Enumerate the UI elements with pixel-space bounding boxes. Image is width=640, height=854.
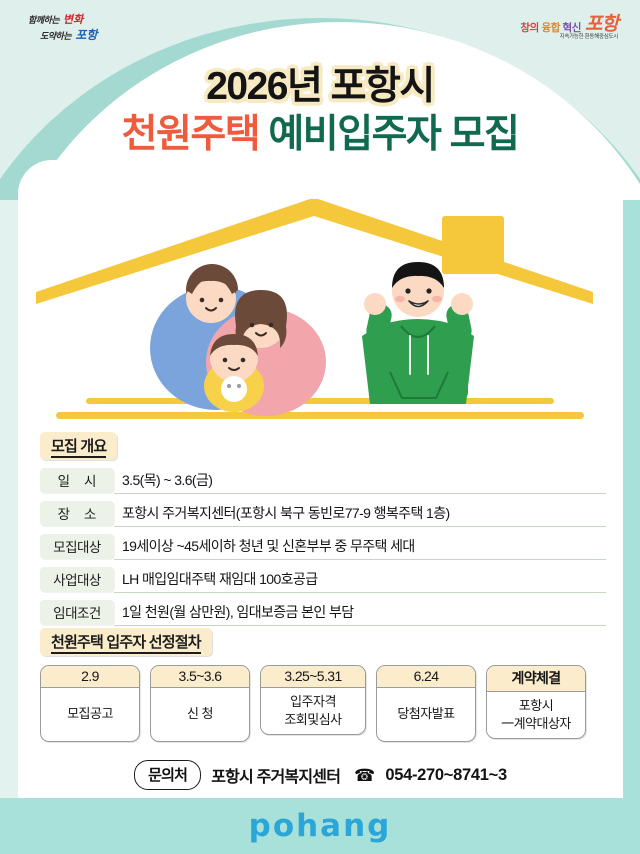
young-man-illustration bbox=[362, 262, 474, 404]
overview-label-terms: 임대조건 bbox=[40, 600, 114, 625]
slogan-row1-accent: 변화 bbox=[63, 13, 83, 26]
process-step-body: 모집공고 bbox=[41, 688, 139, 741]
pohang-city-logo: 창의 융합 혁신 포항 지속가능한 환동해중심도시 bbox=[520, 16, 618, 41]
overview-row: 임대조건 1일 천원(월 삼만원), 임대보증금 본인 부담 bbox=[40, 600, 606, 626]
process-step-date: 6.24 bbox=[377, 666, 475, 688]
process-step-body: 포항시 一계약대상자 bbox=[487, 692, 585, 738]
overview-label-date: 일시 bbox=[40, 468, 114, 493]
city-logo-brand: 포항 bbox=[585, 16, 618, 33]
slogan-row2-prefix: 도약하는 bbox=[40, 32, 71, 42]
title-line-1: 2026년 포항시 bbox=[0, 66, 640, 108]
overview-row: 사업대상 LH 매입임대주택 재임대 100호공급 bbox=[40, 567, 606, 593]
process-step-line-1: 포항시 bbox=[489, 697, 583, 715]
phone-icon: ☎ bbox=[354, 767, 375, 784]
overview-value-date: 3.5(목) ~ 3.6(금) bbox=[114, 470, 606, 494]
process-step-card: 6.24 당첨자발표 bbox=[376, 665, 476, 742]
process-heading: 천원주택 입주자 선정절차 bbox=[40, 628, 212, 656]
process-step-line-1: 모집공고 bbox=[43, 705, 137, 723]
process-step-date: 계약체결 bbox=[487, 666, 585, 692]
process-step-date: 3.25~5.31 bbox=[261, 666, 365, 688]
overview-label-program: 사업대상 bbox=[40, 567, 114, 592]
slogan-row1-prefix: 함께하는 bbox=[28, 16, 59, 26]
overview-value-eligibility: 19세이상 ~45세이하 청년 및 신혼부부 중 무주택 세대 bbox=[114, 536, 606, 560]
house-roof-icon bbox=[36, 199, 593, 304]
process-step-card: 3.25~5.31 입주자격 조회및심사 bbox=[260, 665, 366, 735]
process-step-body: 신 청 bbox=[151, 688, 249, 741]
overview-label-eligibility: 모집대상 bbox=[40, 534, 114, 559]
family-house-illustration bbox=[18, 186, 623, 424]
city-logo-word-2: 융합 bbox=[541, 22, 560, 34]
overview-section: 모집 개요 일시 3.5(목) ~ 3.6(금) 장소 포항시 주거복지센터(포… bbox=[18, 432, 623, 633]
title-main-text: 예비입주자 모집 bbox=[259, 113, 518, 156]
pohang-slogan-logo: 함께하는 변화 도약하는 포항 bbox=[26, 14, 146, 60]
poster-title: 2026년 포항시 천원주택 예비입주자 모집 bbox=[0, 66, 640, 156]
overview-row: 일시 3.5(목) ~ 3.6(금) bbox=[40, 468, 606, 494]
process-step-line-2: 一계약대상자 bbox=[489, 715, 583, 733]
process-step-line-1: 신 청 bbox=[153, 705, 247, 723]
process-step-body: 당첨자발표 bbox=[377, 688, 475, 741]
overview-heading: 모집 개요 bbox=[40, 432, 117, 460]
overview-label-place: 장소 bbox=[40, 501, 114, 526]
overview-table: 일시 3.5(목) ~ 3.6(금) 장소 포항시 주거복지센터(포항시 북구 … bbox=[40, 468, 606, 626]
process-step-card: 계약체결 포항시 一계약대상자 bbox=[486, 665, 586, 739]
pohang-footer-logo: pohang bbox=[249, 811, 392, 842]
title-accent-text: 천원주택 bbox=[122, 113, 260, 156]
ground-line-upper bbox=[86, 398, 554, 404]
overview-heading-text: 모집 개요 bbox=[51, 438, 106, 458]
overview-value-place: 포항시 주거복지센터(포항시 북구 동빈로77-9 행복주택 1층) bbox=[114, 503, 606, 527]
process-step-card: 2.9 모집공고 bbox=[40, 665, 140, 742]
process-step-line-1: 입주자격 bbox=[263, 693, 363, 711]
process-step-body: 입주자격 조회및심사 bbox=[261, 688, 365, 734]
process-step-date: 2.9 bbox=[41, 666, 139, 688]
process-step-card: 3.5~3.6 신 청 bbox=[150, 665, 250, 742]
title-line-2: 천원주택 예비입주자 모집 bbox=[0, 114, 640, 156]
poster-root: 함께하는 변화 도약하는 포항 창의 융합 혁신 포항 지속가능한 환동해중심도… bbox=[0, 0, 640, 854]
footer-bar: pohang bbox=[0, 798, 640, 854]
overview-row: 모집대상 19세이상 ~45세이하 청년 및 신혼부부 중 무주택 세대 bbox=[40, 534, 606, 560]
contact-section: 문의처 포항시 주거복지센터 ☎ 054-270~8741~3 bbox=[18, 760, 623, 790]
city-logo-word-1: 창의 bbox=[520, 22, 539, 34]
overview-row: 장소 포항시 주거복지센터(포항시 북구 동빈로77-9 행복주택 1층) bbox=[40, 501, 606, 527]
contact-organization: 포항시 주거복지센터 bbox=[211, 763, 340, 787]
process-heading-text: 천원주택 입주자 선정절차 bbox=[51, 634, 201, 654]
process-step-line-1: 당첨자발표 bbox=[379, 705, 473, 723]
contact-telephone[interactable]: 054-270~8741~3 bbox=[385, 766, 507, 785]
contact-row: 문의처 포항시 주거복지센터 ☎ 054-270~8741~3 bbox=[18, 760, 623, 790]
process-steps-row: 2.9 모집공고 3.5~3.6 신 청 3.25~5.31 입주자격 조회및심… bbox=[40, 665, 623, 742]
family-group-illustration bbox=[150, 264, 326, 416]
slogan-row2-accent: 포항 bbox=[75, 28, 97, 42]
city-logo-word-3: 혁신 bbox=[563, 22, 582, 34]
overview-value-terms: 1일 천원(월 삼만원), 임대보증금 본인 부담 bbox=[114, 602, 606, 626]
ground-line-lower bbox=[56, 412, 584, 419]
contact-label-pill: 문의처 bbox=[134, 760, 201, 790]
city-logo-subtitle: 지속가능한 환동해중심도시 bbox=[520, 35, 618, 41]
overview-value-program: LH 매입임대주택 재임대 100호공급 bbox=[114, 569, 606, 593]
process-step-line-2: 조회및심사 bbox=[263, 711, 363, 729]
process-step-date: 3.5~3.6 bbox=[151, 666, 249, 688]
process-section: 천원주택 입주자 선정절차 2.9 모집공고 3.5~3.6 신 청 3.25~… bbox=[18, 628, 623, 742]
